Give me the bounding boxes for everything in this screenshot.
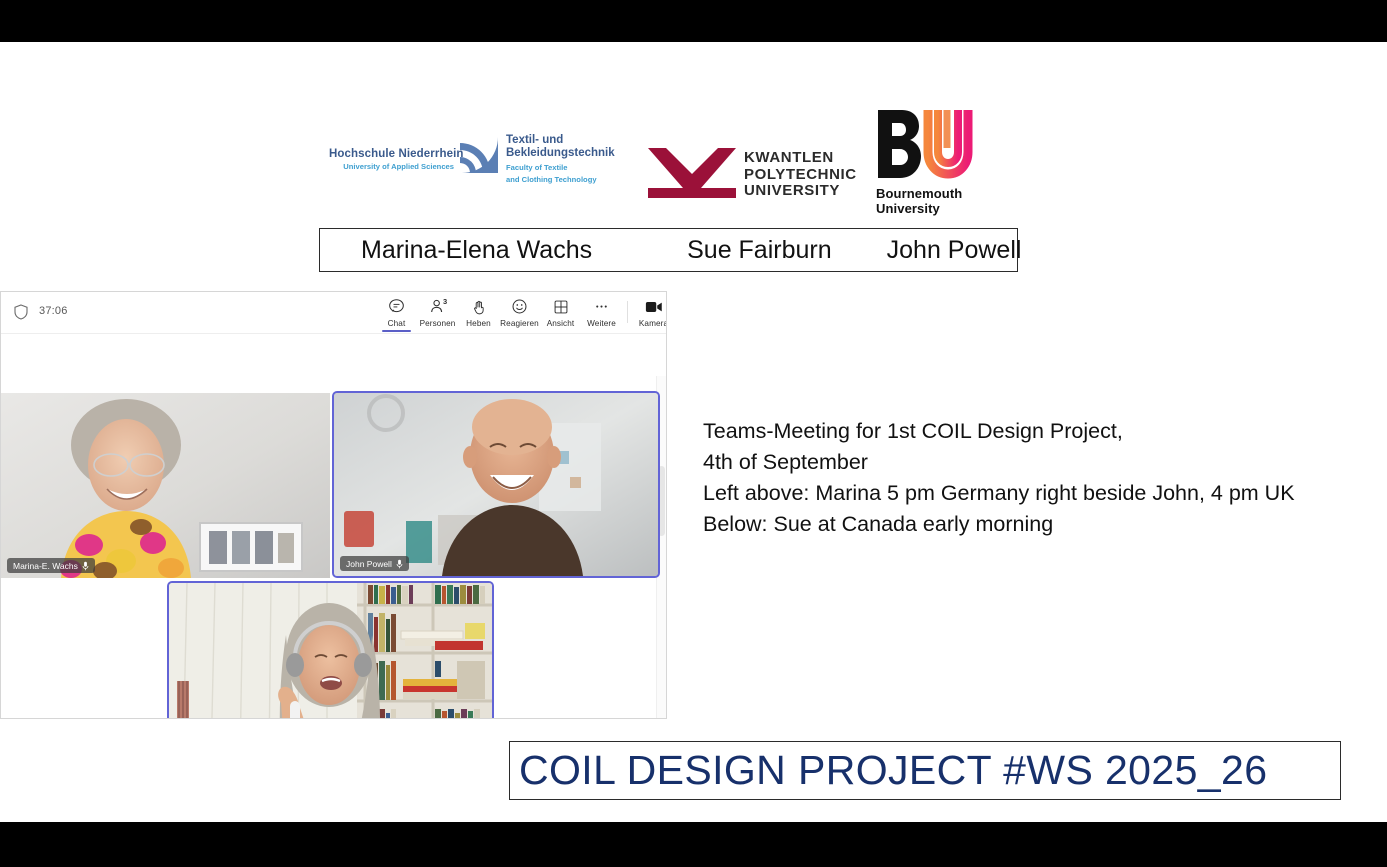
- teams-meeting-window: 37:06 Chat: [0, 291, 667, 719]
- people-count-badge: 3: [443, 297, 447, 306]
- toolbar-button-camera[interactable]: Kamera: [633, 295, 667, 328]
- teams-toolbar-buttons: Chat 3 Personen: [376, 295, 667, 333]
- microphone-icon: [396, 559, 403, 569]
- hn-name: Hochschule Niederrhein: [329, 148, 454, 160]
- slide-canvas: Hochschule Niederrhein University of App…: [0, 42, 1387, 822]
- description-line-4: Below: Sue at Canada early morning: [703, 509, 1383, 540]
- bournemouth-bu-mark-icon: [876, 108, 973, 180]
- presenter-name-1: Marina-Elena Wachs: [361, 236, 592, 265]
- meeting-timer: 37:06: [39, 305, 68, 317]
- kwantlen-logo: KWANTLEN POLYTECHNIC UNIVERSITY: [648, 148, 833, 210]
- presenter-name-3: John Powell: [887, 236, 1022, 265]
- description-line-1: Teams-Meeting for 1st COIL Design Projec…: [703, 416, 1383, 447]
- description-line-2: 4th of September: [703, 447, 1383, 478]
- hochschule-niederrhein-logo: Hochschule Niederrhein University of App…: [329, 110, 604, 180]
- description-line-3: Left above: Marina 5 pm Germany right be…: [703, 478, 1383, 509]
- toolbar-button-more[interactable]: Weitere: [581, 295, 622, 328]
- tile-name-text: John Powell: [346, 559, 392, 569]
- toolbar-button-raise-hand[interactable]: Heben: [458, 295, 499, 328]
- toolbar-button-people[interactable]: 3 Personen: [417, 295, 458, 328]
- bournemouth-line1: Bournemouth: [876, 186, 962, 201]
- bournemouth-logo: Bournemouth University: [876, 108, 976, 226]
- kwantlen-line1: KWANTLEN: [744, 150, 857, 167]
- toolbar-label-chat: Chat: [376, 319, 417, 328]
- toolbar-label-people: Personen: [417, 319, 458, 328]
- hn-subtitle: University of Applied Sciences: [329, 162, 454, 171]
- hn-left-text: Hochschule Niederrhein University of App…: [329, 148, 454, 171]
- description-text: Teams-Meeting for 1st COIL Design Projec…: [703, 416, 1383, 540]
- more-icon: [581, 297, 622, 316]
- presenter-name-2: Sue Fairburn: [687, 236, 832, 265]
- toolbar-divider: [627, 301, 628, 323]
- toolbar-button-chat[interactable]: Chat: [376, 295, 417, 328]
- bournemouth-line2: University: [876, 201, 962, 216]
- toolbar-label-more: Weitere: [581, 319, 622, 328]
- tile-name-marina: Marina-E. Wachs: [7, 558, 95, 573]
- tile-name-john: John Powell: [340, 556, 409, 571]
- kwantlen-chevron-icon: [648, 148, 736, 206]
- people-icon: [417, 297, 458, 316]
- hn-faculty-line1: Textil- und: [506, 134, 615, 147]
- hn-faculty-line2: Bekleidungstechnik: [506, 147, 615, 160]
- video-tile-marina[interactable]: Marina-E. Wachs: [1, 393, 330, 578]
- video-tile-sue[interactable]: Sue Fairburn: [167, 581, 494, 719]
- tile-name-text: Marina-E. Wachs: [13, 561, 78, 571]
- marina-video-frame: [1, 393, 330, 578]
- video-stage: Marina-E. Wachs: [1, 334, 666, 719]
- kwantlen-wordmark: KWANTLEN POLYTECHNIC UNIVERSITY: [744, 150, 857, 200]
- hn-faculty-sub1: Faculty of Textile: [506, 163, 615, 172]
- footer-title-box: COIL DESIGN PROJECT #WS 2025_26: [509, 741, 1341, 800]
- presenter-names-box: Marina-Elena Wachs Sue Fairburn John Pow…: [319, 228, 1018, 272]
- shield-icon: [14, 304, 28, 320]
- presentation-slide: Hochschule Niederrhein University of App…: [0, 0, 1387, 867]
- hn-faculty-sub2: and Clothing Technology: [506, 175, 615, 184]
- john-video-frame: [334, 393, 658, 576]
- microphone-icon: [82, 561, 89, 571]
- toolbar-label-reactions: Reagieren: [499, 319, 540, 328]
- hn-arc-mark-icon: [458, 135, 500, 175]
- view-grid-icon: [540, 297, 581, 316]
- toolbar-label-raise-hand: Heben: [458, 319, 499, 328]
- toolbar-button-reactions[interactable]: Reagieren: [499, 295, 540, 328]
- sue-video-frame: [169, 583, 492, 719]
- logo-row: Hochschule Niederrhein University of App…: [0, 60, 1387, 180]
- chat-icon: [376, 297, 417, 316]
- raise-hand-icon: [458, 297, 499, 316]
- reactions-icon: [499, 297, 540, 316]
- toolbar-button-view[interactable]: Ansicht: [540, 295, 581, 328]
- video-tile-john[interactable]: John Powell: [332, 391, 660, 578]
- toolbar-label-view: Ansicht: [540, 319, 581, 328]
- kwantlen-line3: UNIVERSITY: [744, 183, 857, 200]
- hn-faculty-text: Textil- und Bekleidungstechnik Faculty o…: [506, 134, 615, 184]
- bournemouth-wordmark: Bournemouth University: [876, 186, 962, 216]
- kwantlen-line2: POLYTECHNIC: [744, 167, 857, 184]
- camera-icon: [633, 297, 667, 316]
- teams-toolbar: 37:06 Chat: [1, 292, 666, 334]
- toolbar-label-camera: Kamera: [633, 319, 667, 328]
- footer-title: COIL DESIGN PROJECT #WS 2025_26: [519, 747, 1267, 794]
